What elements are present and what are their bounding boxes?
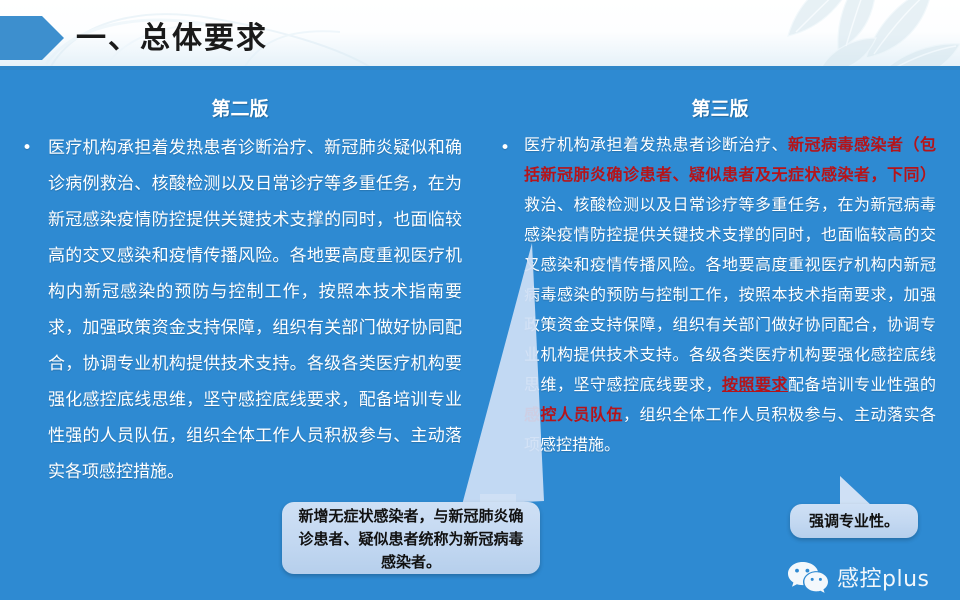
slide-header: 一、总体要求 xyxy=(0,0,960,70)
page-title: 一、总体要求 xyxy=(76,13,268,57)
paragraph-version2: • 医疗机构承担着发热患者诊断治疗、新冠肺炎疑似和确诊病例救治、核酸检测以及日常… xyxy=(22,130,462,490)
paragraph-version2-text: 医疗机构承担着发热患者诊断治疗、新冠肺炎疑似和确诊病例救治、核酸检测以及日常诊疗… xyxy=(48,130,462,490)
paragraph-segment-3: 救治、核酸检测以及日常诊疗等多重任务，在为新冠病毒感染疫情防控提供关键技术支撑的… xyxy=(524,195,936,394)
column-title-right: 第三版 xyxy=(480,94,960,121)
callout-box-right: 强调专业性。 xyxy=(790,504,918,538)
paragraph-version3: • 医疗机构承担着发热患者诊断治疗、新冠病毒感染者（包括新冠肺炎确诊患者、疑似患… xyxy=(500,130,936,460)
paragraph-version3-text: 医疗机构承担着发热患者诊断治疗、新冠病毒感染者（包括新冠肺炎确诊患者、疑似患者及… xyxy=(524,130,936,460)
column-title-left: 第二版 xyxy=(0,94,480,121)
paragraph-segment-6: 感控人员队伍 xyxy=(524,405,623,424)
watermark-label: 感控plus xyxy=(837,561,929,593)
bullet-marker-left: • xyxy=(22,130,32,166)
watermark: 感控plus xyxy=(786,554,956,600)
callout-box-left: 新增无症状感染者，与新冠肺炎确诊患者、疑似患者统称为新冠病毒感染者。 xyxy=(282,502,540,574)
header-floral-decoration xyxy=(670,0,960,70)
paragraph-segment-1: 新冠病毒感染者 xyxy=(788,135,904,154)
wechat-icon xyxy=(786,560,830,594)
slide-body: 第二版 第三版 • 医疗机构承担着发热患者诊断治疗、新冠肺炎疑似和确诊病例救治、… xyxy=(0,70,960,540)
paragraph-segment-4: 按照要求 xyxy=(722,375,788,394)
paragraph-segment-0: 医疗机构承担着发热患者诊断治疗、 xyxy=(524,135,788,154)
bullet-marker-right: • xyxy=(500,130,510,166)
arrow-marker-icon xyxy=(0,16,64,60)
paragraph-segment-5: 配备培训专业性强的 xyxy=(788,375,936,394)
